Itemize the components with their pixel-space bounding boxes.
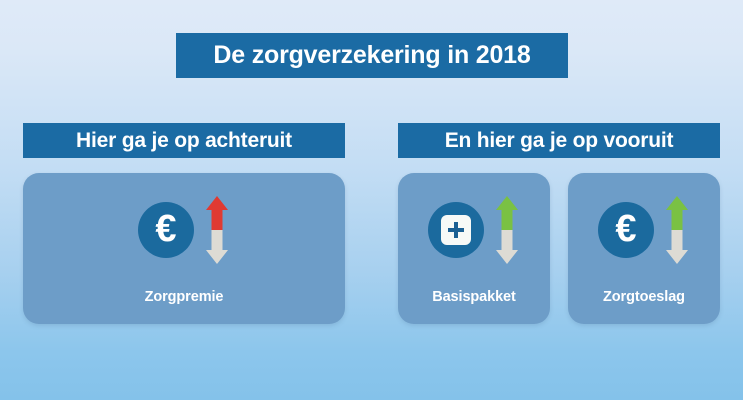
page-title: De zorgverzekering in 2018: [213, 41, 530, 70]
trend-arrows-up-red: [204, 195, 230, 265]
section-heading-positive: En hier ga je op vooruit: [398, 123, 720, 158]
euro-icon-glyph: €: [155, 210, 176, 248]
trend-arrows-up-green-zorgtoeslag: [664, 195, 690, 265]
plus-icon: [428, 202, 484, 258]
section-heading-negative-label: Hier ga je op achteruit: [76, 129, 292, 153]
section-heading-positive-label: En hier ga je op vooruit: [445, 129, 674, 153]
card-basispakket-label: Basispakket: [398, 289, 550, 305]
euro-icon: €: [138, 202, 194, 258]
card-basispakket-body: [398, 195, 550, 265]
euro-icon-glyph: €: [615, 210, 636, 248]
card-zorgtoeslag-label: Zorgtoeslag: [568, 289, 720, 305]
plus-icon-glyph: [446, 220, 466, 240]
card-zorgpremie: € Zorgpremie: [23, 173, 345, 324]
infographic-canvas: De zorgverzekering in 2018 Hier ga je op…: [0, 0, 743, 400]
card-zorgpremie-body: €: [23, 195, 345, 265]
main-title-banner: De zorgverzekering in 2018: [176, 33, 568, 78]
euro-icon: €: [598, 202, 654, 258]
card-zorgtoeslag: € Zorgtoeslag: [568, 173, 720, 324]
card-zorgpremie-label: Zorgpremie: [23, 289, 345, 305]
trend-arrows-up-green-basispakket: [494, 195, 520, 265]
plus-icon-box: [441, 215, 471, 245]
section-heading-negative: Hier ga je op achteruit: [23, 123, 345, 158]
card-basispakket: Basispakket: [398, 173, 550, 324]
card-zorgtoeslag-body: €: [568, 195, 720, 265]
